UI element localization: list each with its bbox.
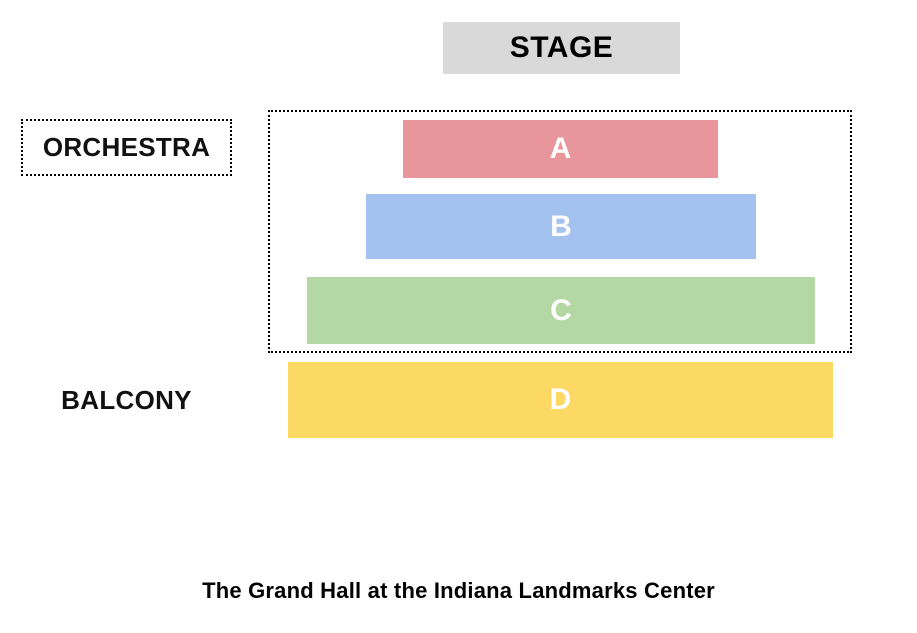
section-label-b: B bbox=[550, 210, 572, 244]
section-block-b[interactable]: B bbox=[366, 194, 756, 259]
zone-label-balcony: BALCONY bbox=[21, 372, 232, 429]
zone-label-orchestra-text: ORCHESTRA bbox=[43, 132, 210, 163]
stage-label: STAGE bbox=[510, 31, 614, 65]
section-block-a[interactable]: A bbox=[403, 120, 718, 178]
stage-block: STAGE bbox=[443, 22, 680, 74]
seating-chart: STAGE ORCHESTRA BALCONY A B C D The Gran… bbox=[0, 0, 917, 633]
zone-label-balcony-text: BALCONY bbox=[61, 385, 192, 416]
zone-label-orchestra: ORCHESTRA bbox=[21, 119, 232, 176]
section-label-c: C bbox=[550, 294, 572, 328]
section-block-c[interactable]: C bbox=[307, 277, 815, 344]
venue-caption: The Grand Hall at the Indiana Landmarks … bbox=[0, 578, 917, 604]
section-label-a: A bbox=[550, 132, 572, 166]
section-block-d[interactable]: D bbox=[288, 362, 833, 438]
section-label-d: D bbox=[550, 383, 572, 417]
